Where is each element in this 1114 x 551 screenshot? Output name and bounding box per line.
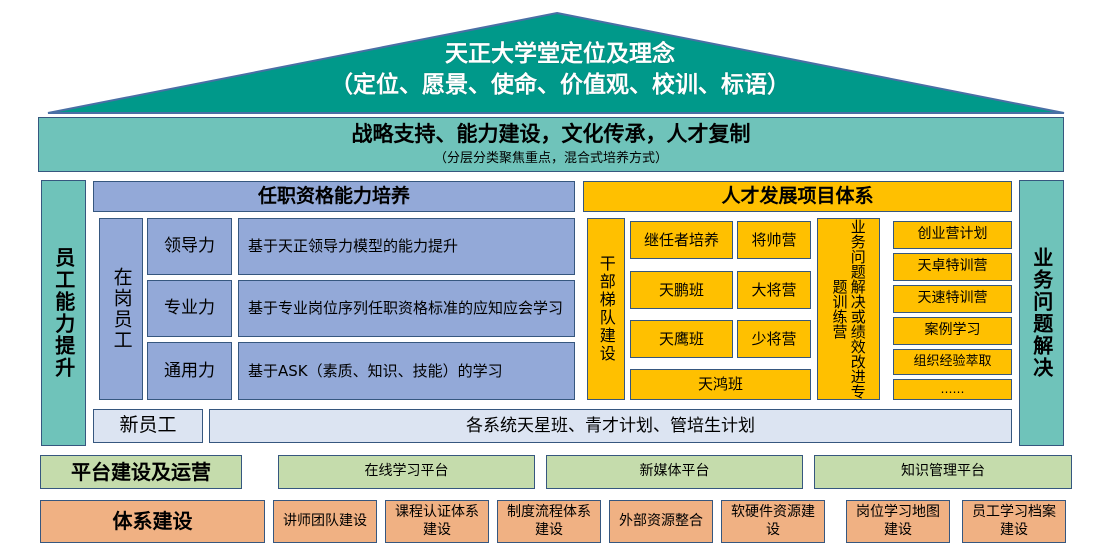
qualification-desc-0: 基于天正领导力模型的能力提升 — [238, 218, 575, 275]
talent-right-item-2: 天速特训营 — [893, 285, 1012, 313]
system-item-3: 外部资源整合 — [609, 500, 713, 543]
talent-wide-item-label: 天鸿班 — [698, 375, 743, 393]
qualification-desc-1: 基于专业岗位序列任职资格标准的应知应会学习 — [238, 280, 575, 337]
qualification-tag-0-label: 领导力 — [164, 236, 215, 257]
qualification-group-onjob: 在岗员工 — [99, 218, 143, 400]
talent-program-header-label: 人才发展项目体系 — [721, 185, 873, 208]
left-pillar-label: 员工能力提升 — [51, 247, 75, 379]
roof-title-line1: 天正大学堂定位及理念 — [445, 39, 675, 70]
roof-title: 天正大学堂定位及理念 （定位、愿景、使命、价值观、校训、标语） — [180, 34, 940, 106]
system-item-6-label: 员工学习档案建设 — [969, 504, 1059, 538]
talent-program-header: 人才发展项目体系 — [583, 181, 1012, 212]
system-item-6: 员工学习档案建设 — [962, 500, 1066, 543]
talent-right-item-4: 组织经验萃取 — [893, 349, 1012, 375]
new-employee-tag: 新员工 — [93, 409, 203, 443]
system-item-0: 讲师团队建设 — [273, 500, 377, 543]
talent-cadre-label: 干部梯队建设 — [596, 255, 616, 363]
platform-item-2: 知识管理平台 — [814, 455, 1072, 489]
talent-right-item-5-label: …… — [941, 382, 965, 397]
talent-right-item-4-label: 组织经验萃取 — [913, 354, 991, 370]
talent-col-a-2: 天鹰班 — [630, 320, 733, 358]
new-employee-desc: 各系统天星班、青才计划、管培生计划 — [209, 409, 1012, 443]
talent-col-b-2: 少将营 — [737, 320, 811, 358]
talent-right-item-5: …… — [893, 379, 1012, 400]
talent-col-a-1: 天鹏班 — [630, 271, 733, 309]
qualification-tag-0: 领导力 — [147, 218, 232, 275]
platform-item-1-label: 新媒体平台 — [640, 463, 710, 480]
talent-cadre-column: 干部梯队建设 — [587, 218, 625, 400]
talent-right-item-3-label: 案例学习 — [925, 322, 981, 339]
talent-right-item-0: 创业营计划 — [893, 221, 1012, 249]
talent-right-item-2-label: 天速特训营 — [918, 290, 988, 307]
qualification-desc-0-label: 基于天正领导力模型的能力提升 — [248, 237, 458, 255]
system-item-1-label: 课程认证体系建设 — [392, 504, 482, 538]
qualification-tag-2-label: 通用力 — [164, 361, 215, 382]
talent-col-b-2-label: 少将营 — [751, 330, 796, 348]
talent-col-b-0: 将帅营 — [737, 221, 811, 259]
system-item-1: 课程认证体系建设 — [385, 500, 489, 543]
left-pillar-employee-capability: 员工能力提升 — [41, 180, 86, 446]
talent-col-a-0: 继任者培养 — [630, 221, 733, 259]
talent-right-item-3: 案例学习 — [893, 317, 1012, 345]
qualification-header-label: 任职资格能力培养 — [258, 185, 410, 208]
system-row-title: 体系建设 — [40, 500, 265, 543]
system-row-title-label: 体系建设 — [113, 509, 193, 533]
talent-wide-item: 天鸿班 — [630, 369, 811, 400]
system-item-3-label: 外部资源整合 — [619, 513, 703, 530]
talent-business-training-camp: 业务问题解决或绩效改进专题训练营 — [817, 218, 880, 400]
qualification-tag-2: 通用力 — [147, 342, 232, 400]
qualification-desc-2-label: 基于ASK（素质、知识、技能）的学习 — [248, 362, 503, 380]
system-item-0-label: 讲师团队建设 — [283, 513, 367, 530]
talent-business-training-camp-label: 业务问题解决或绩效改进专题训练营 — [830, 219, 867, 399]
system-item-2-label: 制度流程体系建设 — [504, 504, 594, 538]
talent-right-item-1-label: 天卓特训营 — [918, 258, 988, 275]
qualification-tag-1: 专业力 — [147, 280, 232, 337]
qualification-desc-1-label: 基于专业岗位序列任职资格标准的应知应会学习 — [248, 299, 563, 317]
talent-col-a-2-label: 天鹰班 — [659, 330, 704, 348]
talent-col-b-0-label: 将帅营 — [751, 231, 796, 249]
strategy-band-sub: （分层分类聚焦重点，混合式培养方式） — [434, 151, 668, 167]
qualification-desc-2: 基于ASK（素质、知识、技能）的学习 — [238, 342, 575, 400]
talent-col-a-1-label: 天鹏班 — [659, 281, 704, 299]
platform-item-0: 在线学习平台 — [278, 455, 535, 489]
qualification-group-label: 在岗员工 — [109, 267, 132, 351]
system-item-2: 制度流程体系建设 — [497, 500, 601, 543]
qualification-header: 任职资格能力培养 — [93, 181, 575, 212]
system-item-4: 软硬件资源建设 — [721, 500, 825, 543]
diagram-canvas: 天正大学堂定位及理念 （定位、愿景、使命、价值观、校训、标语） 战略支持、能力建… — [0, 0, 1114, 551]
roof-title-line2: （定位、愿景、使命、价值观、校训、标语） — [330, 70, 790, 101]
system-item-4-label: 软硬件资源建设 — [728, 504, 818, 538]
platform-item-0-label: 在线学习平台 — [365, 463, 449, 480]
new-employee-tag-label: 新员工 — [119, 414, 176, 437]
system-item-5-label: 岗位学习地图建设 — [853, 504, 943, 538]
talent-right-item-0-label: 创业营计划 — [918, 226, 988, 243]
talent-col-b-1: 大将营 — [737, 271, 811, 309]
qualification-tag-1-label: 专业力 — [164, 298, 215, 319]
platform-row-title: 平台建设及运营 — [40, 455, 242, 489]
talent-col-a-0-label: 继任者培养 — [644, 231, 719, 249]
platform-item-2-label: 知识管理平台 — [901, 463, 985, 480]
right-pillar-label: 业务问题解决 — [1029, 247, 1053, 379]
talent-right-item-1: 天卓特训营 — [893, 253, 1012, 281]
right-pillar-business-problem: 业务问题解决 — [1019, 180, 1064, 446]
platform-row-title-label: 平台建设及运营 — [71, 460, 211, 484]
strategy-band: 战略支持、能力建设，文化传承，人才复制 （分层分类聚焦重点，混合式培养方式） — [38, 117, 1064, 172]
system-item-5: 岗位学习地图建设 — [846, 500, 950, 543]
platform-item-1: 新媒体平台 — [546, 455, 803, 489]
new-employee-desc-label: 各系统天星班、青才计划、管培生计划 — [466, 416, 755, 437]
talent-col-b-1-label: 大将营 — [751, 281, 796, 299]
strategy-band-main: 战略支持、能力建设，文化传承，人才复制 — [352, 122, 751, 148]
